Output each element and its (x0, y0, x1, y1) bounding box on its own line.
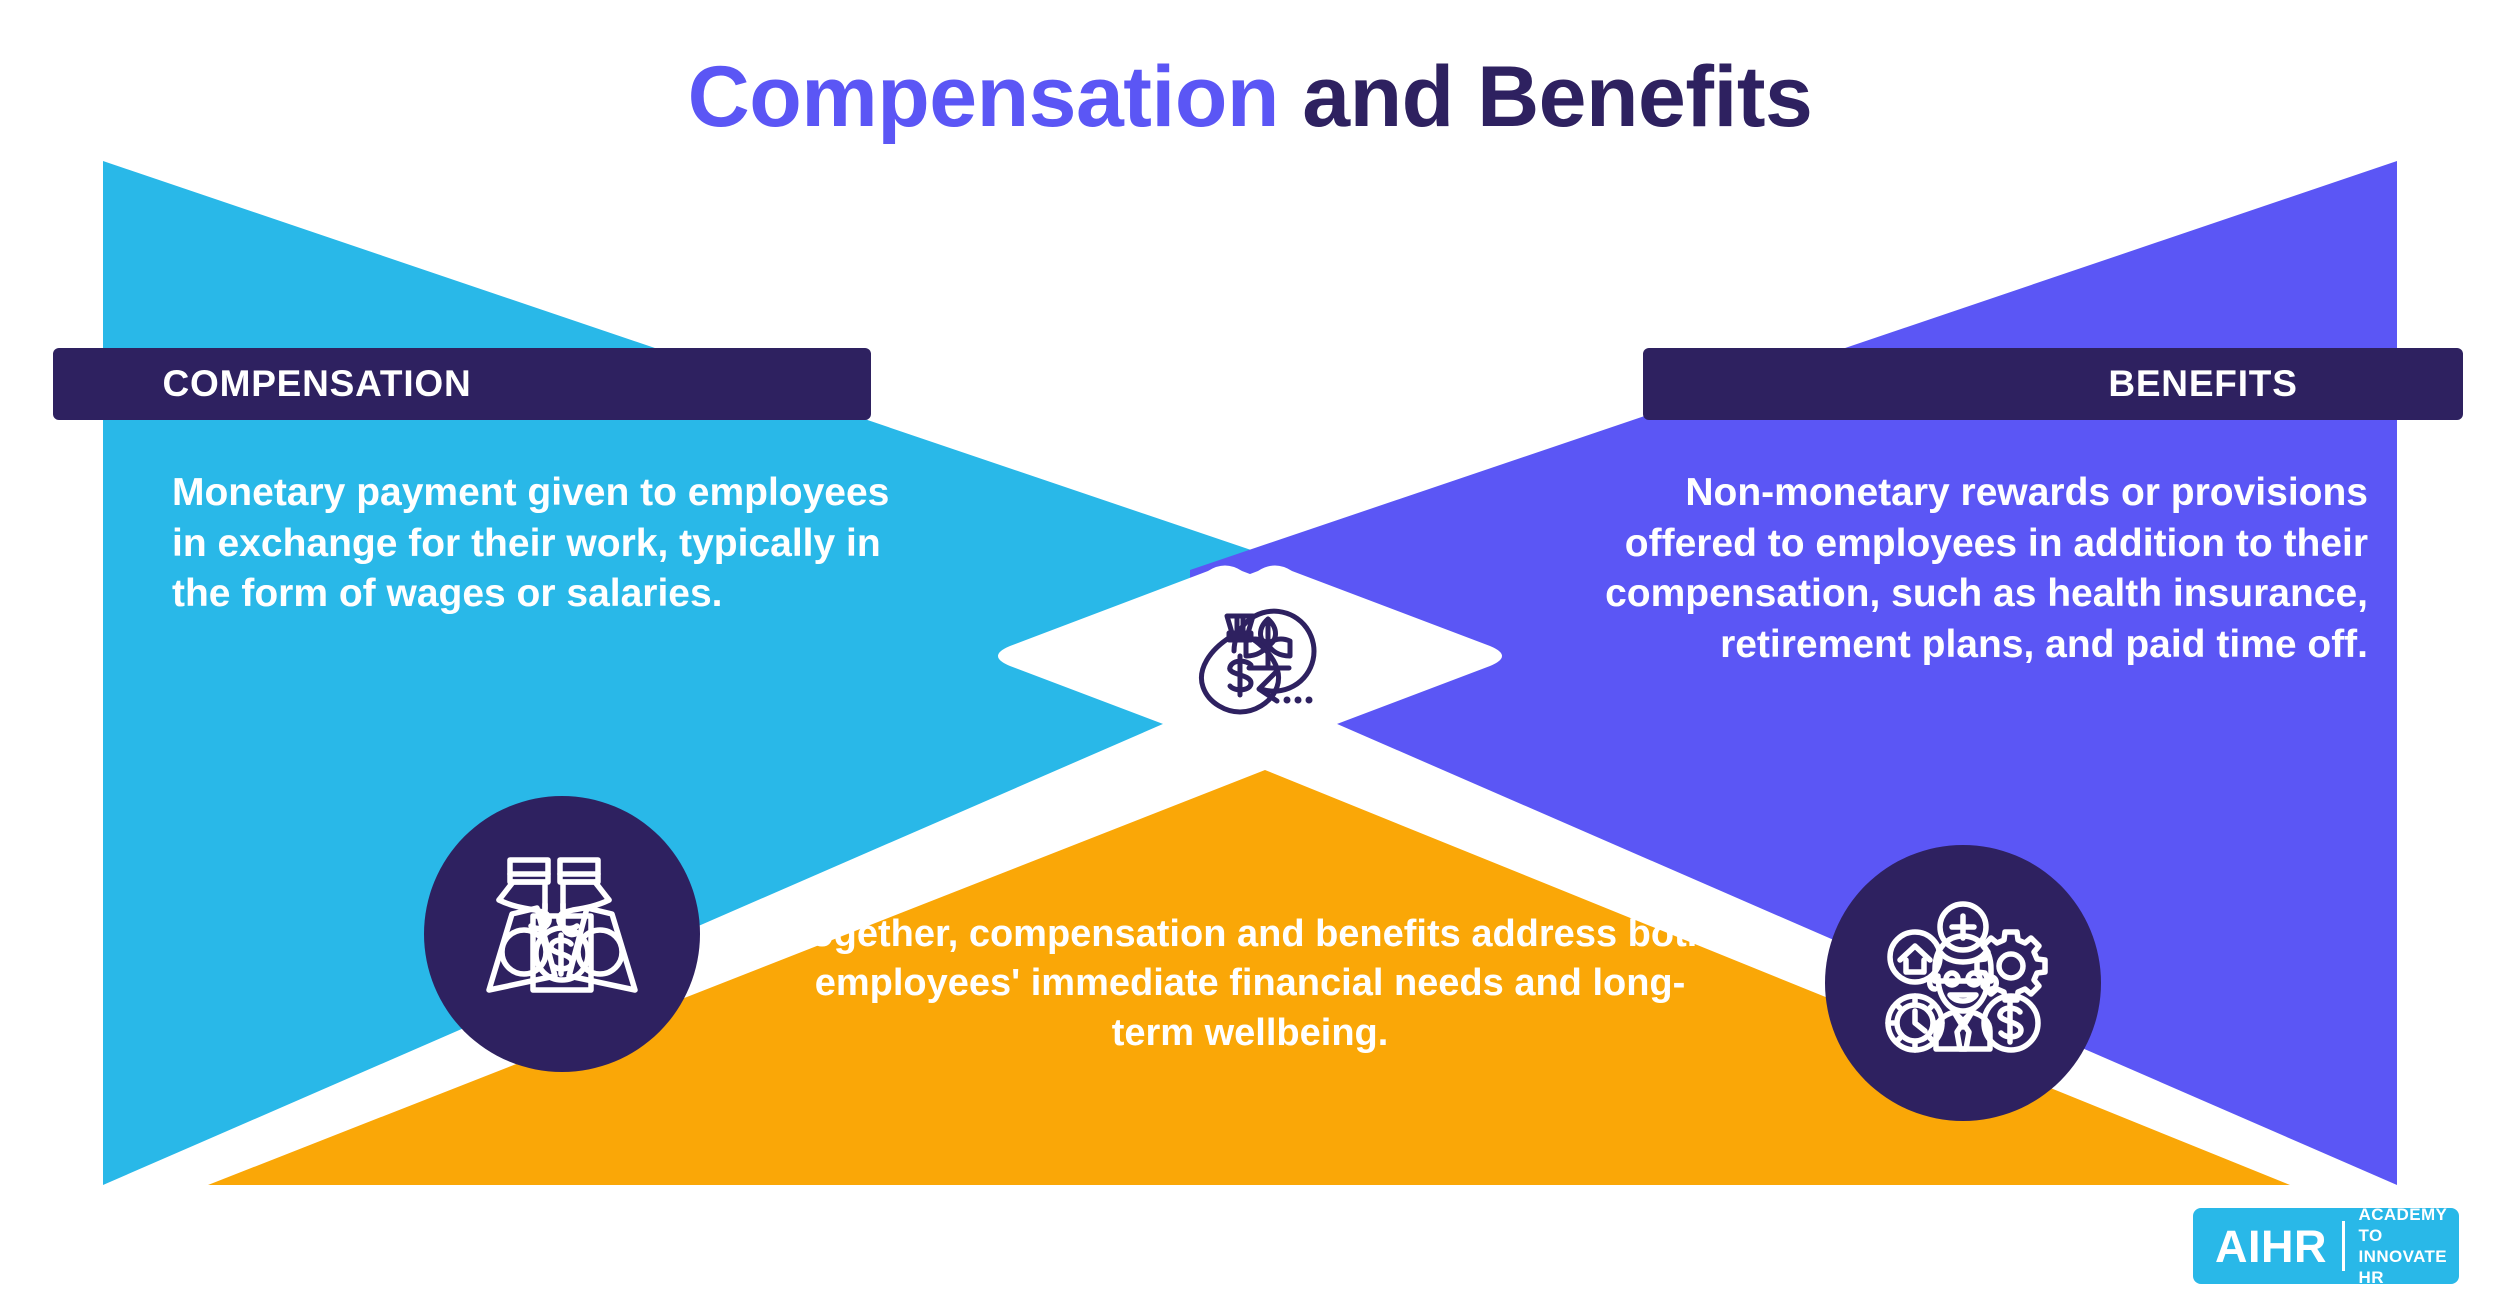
logo-wordmark: AIHR (2215, 1224, 2327, 1269)
compensation-description: Monetary payment given to employees in e… (172, 468, 932, 620)
compensation-label-bar: COMPENSATION (53, 348, 871, 420)
benefits-description: Non-monetary rewards or provisions offer… (1600, 468, 2368, 671)
benefits-label-text: BENEFITS (2108, 363, 2297, 405)
infographic-canvas: Compensation and Benefits COMPENSATION B… (0, 0, 2500, 1307)
employee-benefits-icon (1878, 901, 2048, 1066)
hands-holding-cash-icon (477, 854, 647, 1014)
logo-tagline-line2: INNOVATE HR (2359, 1247, 2448, 1287)
compensation-label-text: COMPENSATION (162, 363, 471, 405)
aihr-logo[interactable]: AIHR ACADEMY TO INNOVATE HR (2193, 1208, 2459, 1284)
logo-tagline-line1: ACADEMY TO (2359, 1205, 2447, 1245)
title-rest: and Benefits (1279, 49, 1812, 145)
compensation-icon-badge (424, 796, 700, 1072)
benefits-label-bar: BENEFITS (1643, 348, 2463, 420)
page-title: Compensation and Benefits (0, 52, 2500, 142)
logo-divider (2342, 1221, 2345, 1271)
benefits-icon-badge (1825, 845, 2101, 1121)
logo-tagline: ACADEMY TO INNOVATE HR (2359, 1204, 2459, 1289)
money-bag-growth-icon (1185, 588, 1330, 716)
title-accent: Compensation (688, 49, 1279, 145)
together-description: Together, compensation and benefits addr… (790, 910, 1710, 1058)
